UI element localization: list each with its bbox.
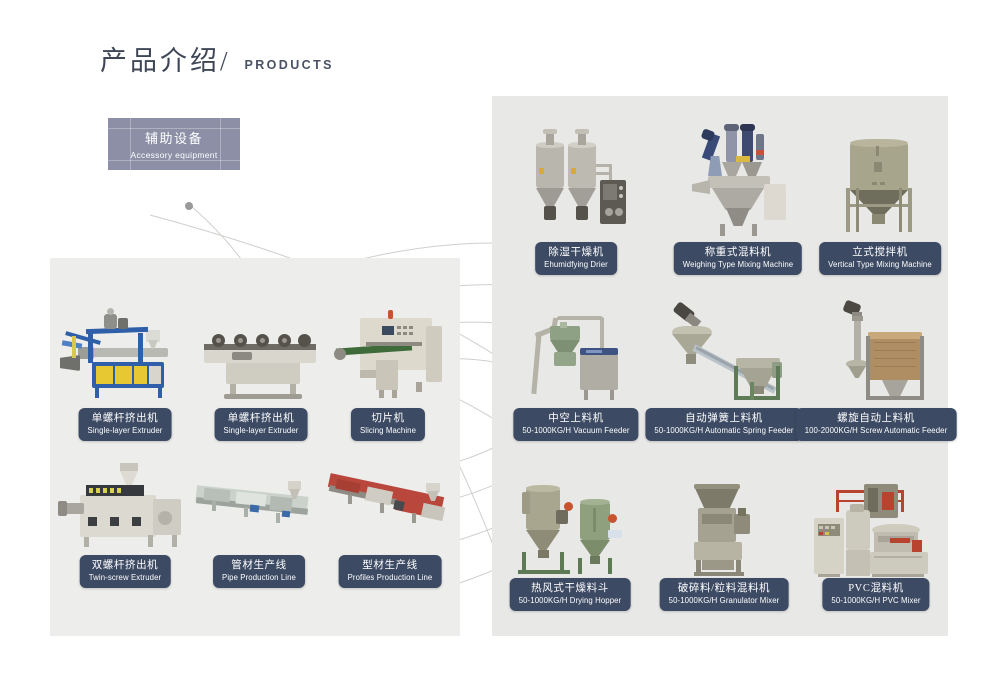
caption-cn: 中空上料机 (522, 412, 629, 425)
caption-cn: PVC混料机 (831, 582, 920, 595)
caption-en: Ehumidfying Drier (544, 260, 608, 270)
product-caption: 称重式混料机 Weighing Type Mixing Machine (674, 242, 802, 275)
product-cell-weighing-type-mixing-machine[interactable]: 称重式混料机 Weighing Type Mixing Machine (668, 114, 808, 274)
product-cell-vertical-type-mixing-machine[interactable]: 立式搅拌机 Vertical Type Mixing Machine (824, 124, 936, 274)
caption-en: Twin-screw Extruder (89, 573, 162, 583)
product-cell-profiles-production-line[interactable]: 型材生产线 Profiles Production Line (326, 455, 454, 585)
caption-cn: 切片机 (360, 412, 416, 425)
caption-en: Pipe Production Line (222, 573, 296, 583)
product-cell-pvc-mixer[interactable]: PVC混料机 50-1000KG/H PVC Mixer (806, 474, 946, 606)
product-caption: 单螺杆挤出机 Single-layer Extruder (215, 408, 308, 441)
caption-cn: 双螺杆挤出机 (89, 559, 162, 572)
product-caption: 除湿干燥机 Ehumidfying Drier (535, 242, 617, 275)
product-cell-slicing-machine[interactable]: 切片机 Slicing Machine (330, 300, 446, 440)
product-caption: 双螺杆挤出机 Twin-screw Extruder (80, 555, 171, 588)
product-cell-single-layer-extruder-1[interactable]: 单螺杆挤出机 Single-layer Extruder (60, 300, 190, 440)
product-caption: 破碎料/粒料混料机 50-1000KG/H Granulator Mixer (660, 578, 789, 611)
product-cell-single-layer-extruder-2[interactable]: 单螺杆挤出机 Single-layer Extruder (196, 300, 326, 440)
product-caption: 中空上料机 50-1000KG/H Vacuum Feeder (513, 408, 638, 441)
product-cell-ehumidfying-drier[interactable]: 除湿干燥机 Ehumidfying Drier (520, 124, 632, 274)
caption-en: 50-1000KG/H Vacuum Feeder (522, 426, 629, 436)
product-image-slicing-machine (330, 300, 446, 405)
caption-en: Single-layer Extruder (88, 426, 163, 436)
product-image-single-layer-extruder-1 (60, 300, 190, 405)
product-image-vertical-type-mixing-machine (824, 124, 936, 242)
product-image-granulator-mixer (668, 474, 780, 582)
product-cell-drying-hopper[interactable]: 热风式干燥料斗 50-1000KG/H Drying Hopper (508, 474, 632, 606)
caption-cn: 破碎料/粒料混料机 (669, 582, 780, 595)
category-label-cn: 辅助设备 (145, 128, 203, 147)
caption-en: 50-1000KG/H PVC Mixer (831, 596, 920, 606)
product-image-pipe-production-line (192, 455, 326, 555)
product-cell-pipe-production-line[interactable]: 管材生产线 Pipe Production Line (192, 455, 326, 585)
product-cell-vacuum-feeder[interactable]: 中空上料机 50-1000KG/H Vacuum Feeder (520, 296, 632, 440)
product-image-pvc-mixer (806, 474, 946, 582)
product-caption: PVC混料机 50-1000KG/H PVC Mixer (822, 578, 929, 611)
caption-cn: 单螺杆挤出机 (88, 412, 163, 425)
product-caption: 型材生产线 Profiles Production Line (339, 555, 442, 588)
product-caption: 管材生产线 Pipe Production Line (213, 555, 305, 588)
product-image-screw-automatic-feeder (808, 296, 944, 408)
product-image-drying-hopper (508, 474, 632, 582)
product-caption: 单螺杆挤出机 Single-layer Extruder (79, 408, 172, 441)
product-image-single-layer-extruder-2 (196, 300, 326, 405)
caption-cn: 管材生产线 (222, 559, 296, 572)
product-cell-granulator-mixer[interactable]: 破碎料/粒料混料机 50-1000KG/H Granulator Mixer (668, 474, 780, 606)
product-caption: 切片机 Slicing Machine (351, 408, 425, 441)
caption-en: Slicing Machine (360, 426, 416, 436)
product-image-profiles-production-line (326, 455, 454, 555)
category-label-en: Accessory equipment (131, 150, 218, 160)
product-image-twin-screw-extruder (58, 455, 192, 555)
page-title-cn: 产品介绍/ (100, 48, 231, 75)
category-tag: 辅助设备 Accessory equipment (108, 118, 240, 170)
product-image-weighing-type-mixing-machine (668, 114, 808, 242)
product-caption: 立式搅拌机 Vertical Type Mixing Machine (819, 242, 941, 275)
caption-en: 50-1000KG/H Automatic Spring Feeder (654, 426, 793, 436)
caption-cn: 型材生产线 (348, 559, 433, 572)
caption-en: Vertical Type Mixing Machine (828, 260, 932, 270)
caption-en: 50-1000KG/H Granulator Mixer (669, 596, 780, 606)
caption-cn: 除湿干燥机 (544, 246, 608, 259)
page-title-en: PRODUCTS (245, 58, 334, 75)
product-image-ehumidfying-drier (520, 124, 632, 242)
caption-en: Single-layer Extruder (224, 426, 299, 436)
product-cell-screw-automatic-feeder[interactable]: 螺旋自动上料机 100-2000KG/H Screw Automatic Fee… (808, 296, 944, 440)
page-header: 产品介绍/ PRODUCTS (100, 48, 334, 75)
product-image-vacuum-feeder (520, 296, 632, 408)
caption-cn: 螺旋自动上料机 (805, 412, 948, 425)
caption-cn: 热风式干燥料斗 (519, 582, 622, 595)
product-image-automatic-spring-feeder (660, 296, 788, 408)
caption-en: Weighing Type Mixing Machine (683, 260, 793, 270)
product-caption: 螺旋自动上料机 100-2000KG/H Screw Automatic Fee… (796, 408, 957, 441)
product-caption: 热风式干燥料斗 50-1000KG/H Drying Hopper (510, 578, 631, 611)
product-caption: 自动弹簧上料机 50-1000KG/H Automatic Spring Fee… (645, 408, 802, 441)
caption-cn: 单螺杆挤出机 (224, 412, 299, 425)
product-cell-automatic-spring-feeder[interactable]: 自动弹簧上料机 50-1000KG/H Automatic Spring Fee… (660, 296, 788, 440)
product-cell-twin-screw-extruder[interactable]: 双螺杆挤出机 Twin-screw Extruder (58, 455, 192, 585)
product-catalog-page: 产品介绍/ PRODUCTS 辅助设备 Accessory equipment (0, 0, 1000, 678)
caption-cn: 自动弹簧上料机 (654, 412, 793, 425)
caption-en: 50-1000KG/H Drying Hopper (519, 596, 622, 606)
caption-en: 100-2000KG/H Screw Automatic Feeder (805, 426, 948, 436)
caption-cn: 立式搅拌机 (828, 246, 932, 259)
caption-en: Profiles Production Line (348, 573, 433, 583)
caption-cn: 称重式混料机 (683, 246, 793, 259)
